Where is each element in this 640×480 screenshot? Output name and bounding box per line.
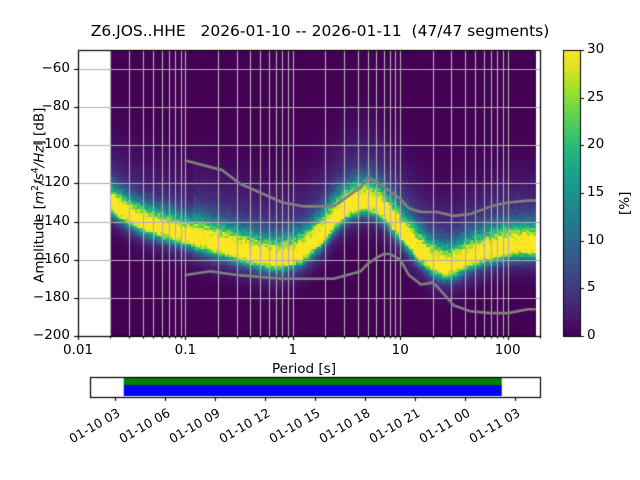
x-tick-label: 10 <box>360 342 440 358</box>
y-tick-label: −140 <box>0 213 70 229</box>
colorbar-tick-label: 10 <box>587 232 617 248</box>
x-tick-label: 0.1 <box>145 342 225 358</box>
x-tick-label: 0.01 <box>38 342 118 358</box>
x-tick-label: 1 <box>253 342 333 358</box>
y-tick-label: −80 <box>0 98 70 114</box>
colorbar-tick-label: 15 <box>587 184 617 200</box>
colorbar-tick-label: 20 <box>587 136 617 152</box>
colorbar-tick-label: 5 <box>587 279 617 295</box>
x-axis-label: Period [s] <box>0 361 608 377</box>
y-tick-label: −60 <box>0 60 70 76</box>
y-tick-label: −160 <box>0 251 70 267</box>
y-tick-label: −200 <box>0 327 70 343</box>
y-tick-label: −120 <box>0 174 70 190</box>
colorbar-tick-label: 0 <box>587 327 617 343</box>
chart-title: Z6.JOS..HHE 2026-01-10 -- 2026-01-11 (47… <box>0 22 640 40</box>
colorbar-tick-label: 30 <box>587 41 617 57</box>
y-tick-label: −180 <box>0 289 70 305</box>
colorbar-tick-label: 25 <box>587 89 617 105</box>
ppsd-canvas <box>0 0 640 480</box>
y-tick-label: −100 <box>0 136 70 152</box>
colorbar-label: [%] <box>617 192 633 215</box>
x-tick-label: 100 <box>468 342 548 358</box>
ppsd-figure: Z6.JOS..HHE 2026-01-10 -- 2026-01-11 (47… <box>0 0 640 480</box>
